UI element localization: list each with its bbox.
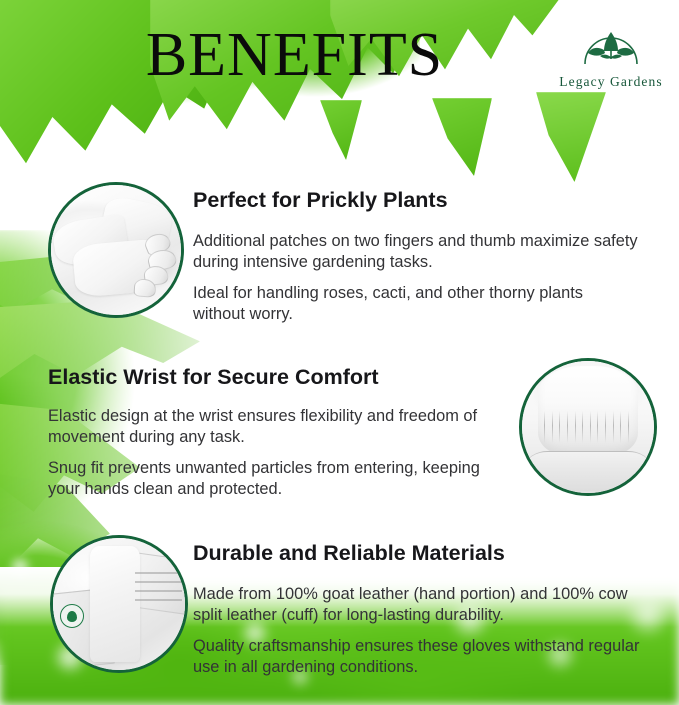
glove-hand (90, 546, 140, 662)
benefit-paragraph: Made from 100% goat leather (hand portio… (193, 584, 643, 627)
cuff-gathers (540, 411, 635, 443)
elastic-wrist-cuff-photo (519, 358, 657, 496)
benefit-heading-prickly-plants: Perfect for Prickly Plants (193, 189, 448, 213)
benefit-paragraph: Ideal for handling roses, cacti, and oth… (193, 283, 639, 326)
photo-fill (53, 538, 185, 670)
photo-fill (51, 185, 181, 315)
leather-gauntlet-gloves-photo (50, 535, 188, 673)
cuff-hem (525, 451, 652, 492)
benefits-infographic: BENEFITS Legacy Gardens (0, 0, 679, 705)
photo-fill (522, 361, 654, 493)
content-layer: BENEFITS Legacy Gardens (0, 0, 679, 705)
benefit-heading-durable-materials: Durable and Reliable Materials (193, 542, 505, 566)
benefit-paragraph: Quality craftsmanship ensures these glov… (193, 636, 643, 679)
benefit-paragraph: Elastic design at the wrist ensures flex… (48, 406, 500, 449)
benefit-body-elastic-wrist: Elastic design at the wrist ensures flex… (48, 406, 500, 500)
benefit-paragraph: Additional patches on two fingers and th… (193, 231, 639, 274)
gardening-gloves-photo (48, 182, 184, 318)
brand-name: Legacy Gardens (551, 74, 671, 90)
benefit-body-prickly-plants: Additional patches on two fingers and th… (193, 231, 639, 325)
arch-leaf-emblem-icon (551, 26, 671, 71)
benefit-heading-elastic-wrist: Elastic Wrist for Secure Comfort (48, 366, 379, 390)
glove-finger-seams (135, 570, 183, 604)
benefit-body-durable-materials: Made from 100% goat leather (hand portio… (193, 584, 643, 678)
benefit-paragraph: Snug fit prevents unwanted particles fro… (48, 458, 500, 501)
brand-logo: Legacy Gardens (551, 26, 671, 90)
